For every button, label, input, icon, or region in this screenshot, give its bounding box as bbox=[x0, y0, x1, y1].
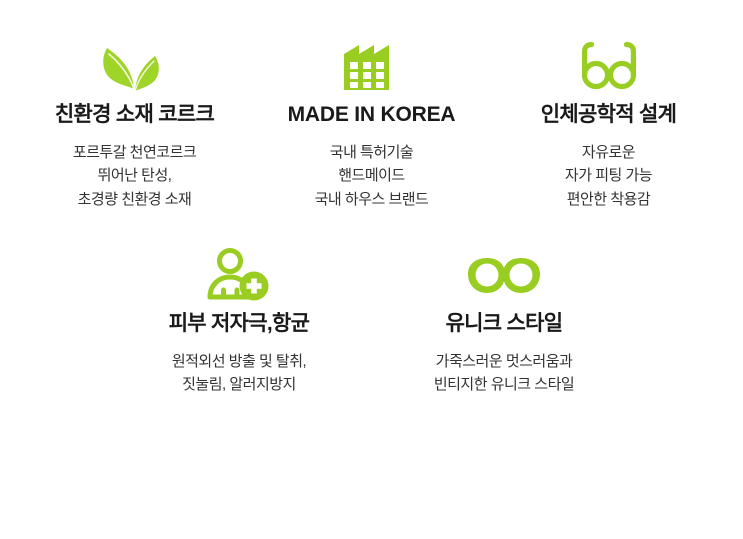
feature-title: 피부 저자극,항균 bbox=[169, 311, 310, 336]
feature-title: 인체공학적 설계 bbox=[541, 102, 676, 127]
desc-line: 뛰어난 탄성, bbox=[73, 164, 196, 187]
feature-unique-style: 유니크 스타일 가죽스러운 멋스러움과 빈티지한 유니크 스타일 bbox=[372, 239, 637, 397]
desc-line: 포르투갈 천연코르크 bbox=[73, 141, 196, 164]
feature-grid-page: 친환경 소재 코르크 포르투갈 천연코르크 뛰어난 탄성, 초경량 친환경 소재 bbox=[0, 0, 743, 539]
feature-title: 유니크 스타일 bbox=[446, 311, 563, 336]
desc-line: 짓눌림, 알러지방지 bbox=[172, 373, 306, 396]
desc-line: 편안한 착용감 bbox=[565, 188, 652, 211]
feature-title: MADE IN KOREA bbox=[288, 102, 456, 127]
desc-line: 가죽스러운 멋스러움과 bbox=[434, 350, 574, 373]
eyeglasses-icon bbox=[464, 239, 544, 301]
desc-line: 자유로운 bbox=[565, 141, 652, 164]
desc-line: 국내 하우스 브랜드 bbox=[315, 188, 429, 211]
feature-skin-friendly: 피부 저자극,항균 원적외선 방출 및 탈취, 짓눌림, 알러지방지 bbox=[107, 239, 372, 397]
feature-description: 포르투갈 천연코르크 뛰어난 탄성, 초경량 친환경 소재 bbox=[73, 141, 196, 211]
feature-eco-cork: 친환경 소재 코르크 포르투갈 천연코르크 뛰어난 탄성, 초경량 친환경 소재 bbox=[16, 30, 253, 211]
desc-line: 빈티지한 유니크 스타일 bbox=[434, 373, 574, 396]
feature-ergonomic-design: 인체공학적 설계 자유로운 자가 피팅 가능 편안한 착용감 bbox=[490, 30, 727, 211]
feature-row-bottom: 피부 저자극,항균 원적외선 방출 및 탈취, 짓눌림, 알러지방지 유니크 스… bbox=[0, 211, 743, 397]
desc-line: 원적외선 방출 및 탈취, bbox=[172, 350, 306, 373]
feature-description: 가죽스러운 멋스러움과 빈티지한 유니크 스타일 bbox=[434, 350, 574, 397]
feature-description: 국내 특허기술 핸드메이드 국내 하우스 브랜드 bbox=[315, 141, 429, 211]
factory-icon bbox=[342, 30, 402, 92]
desc-line: 자가 피팅 가능 bbox=[565, 164, 652, 187]
desc-line: 초경량 친환경 소재 bbox=[73, 188, 196, 211]
leaf-icon bbox=[97, 30, 173, 92]
feature-row-top: 친환경 소재 코르크 포르투갈 천연코르크 뛰어난 탄성, 초경량 친환경 소재 bbox=[0, 0, 743, 211]
reading-glasses-icon bbox=[580, 30, 638, 92]
person-plus-icon bbox=[204, 239, 274, 301]
desc-line: 국내 특허기술 bbox=[315, 141, 429, 164]
feature-made-in-korea: MADE IN KOREA 국내 특허기술 핸드메이드 국내 하우스 브랜드 bbox=[253, 30, 490, 211]
feature-description: 자유로운 자가 피팅 가능 편안한 착용감 bbox=[565, 141, 652, 211]
feature-title: 친환경 소재 코르크 bbox=[55, 102, 214, 127]
desc-line: 핸드메이드 bbox=[315, 164, 429, 187]
feature-description: 원적외선 방출 및 탈취, 짓눌림, 알러지방지 bbox=[172, 350, 306, 397]
